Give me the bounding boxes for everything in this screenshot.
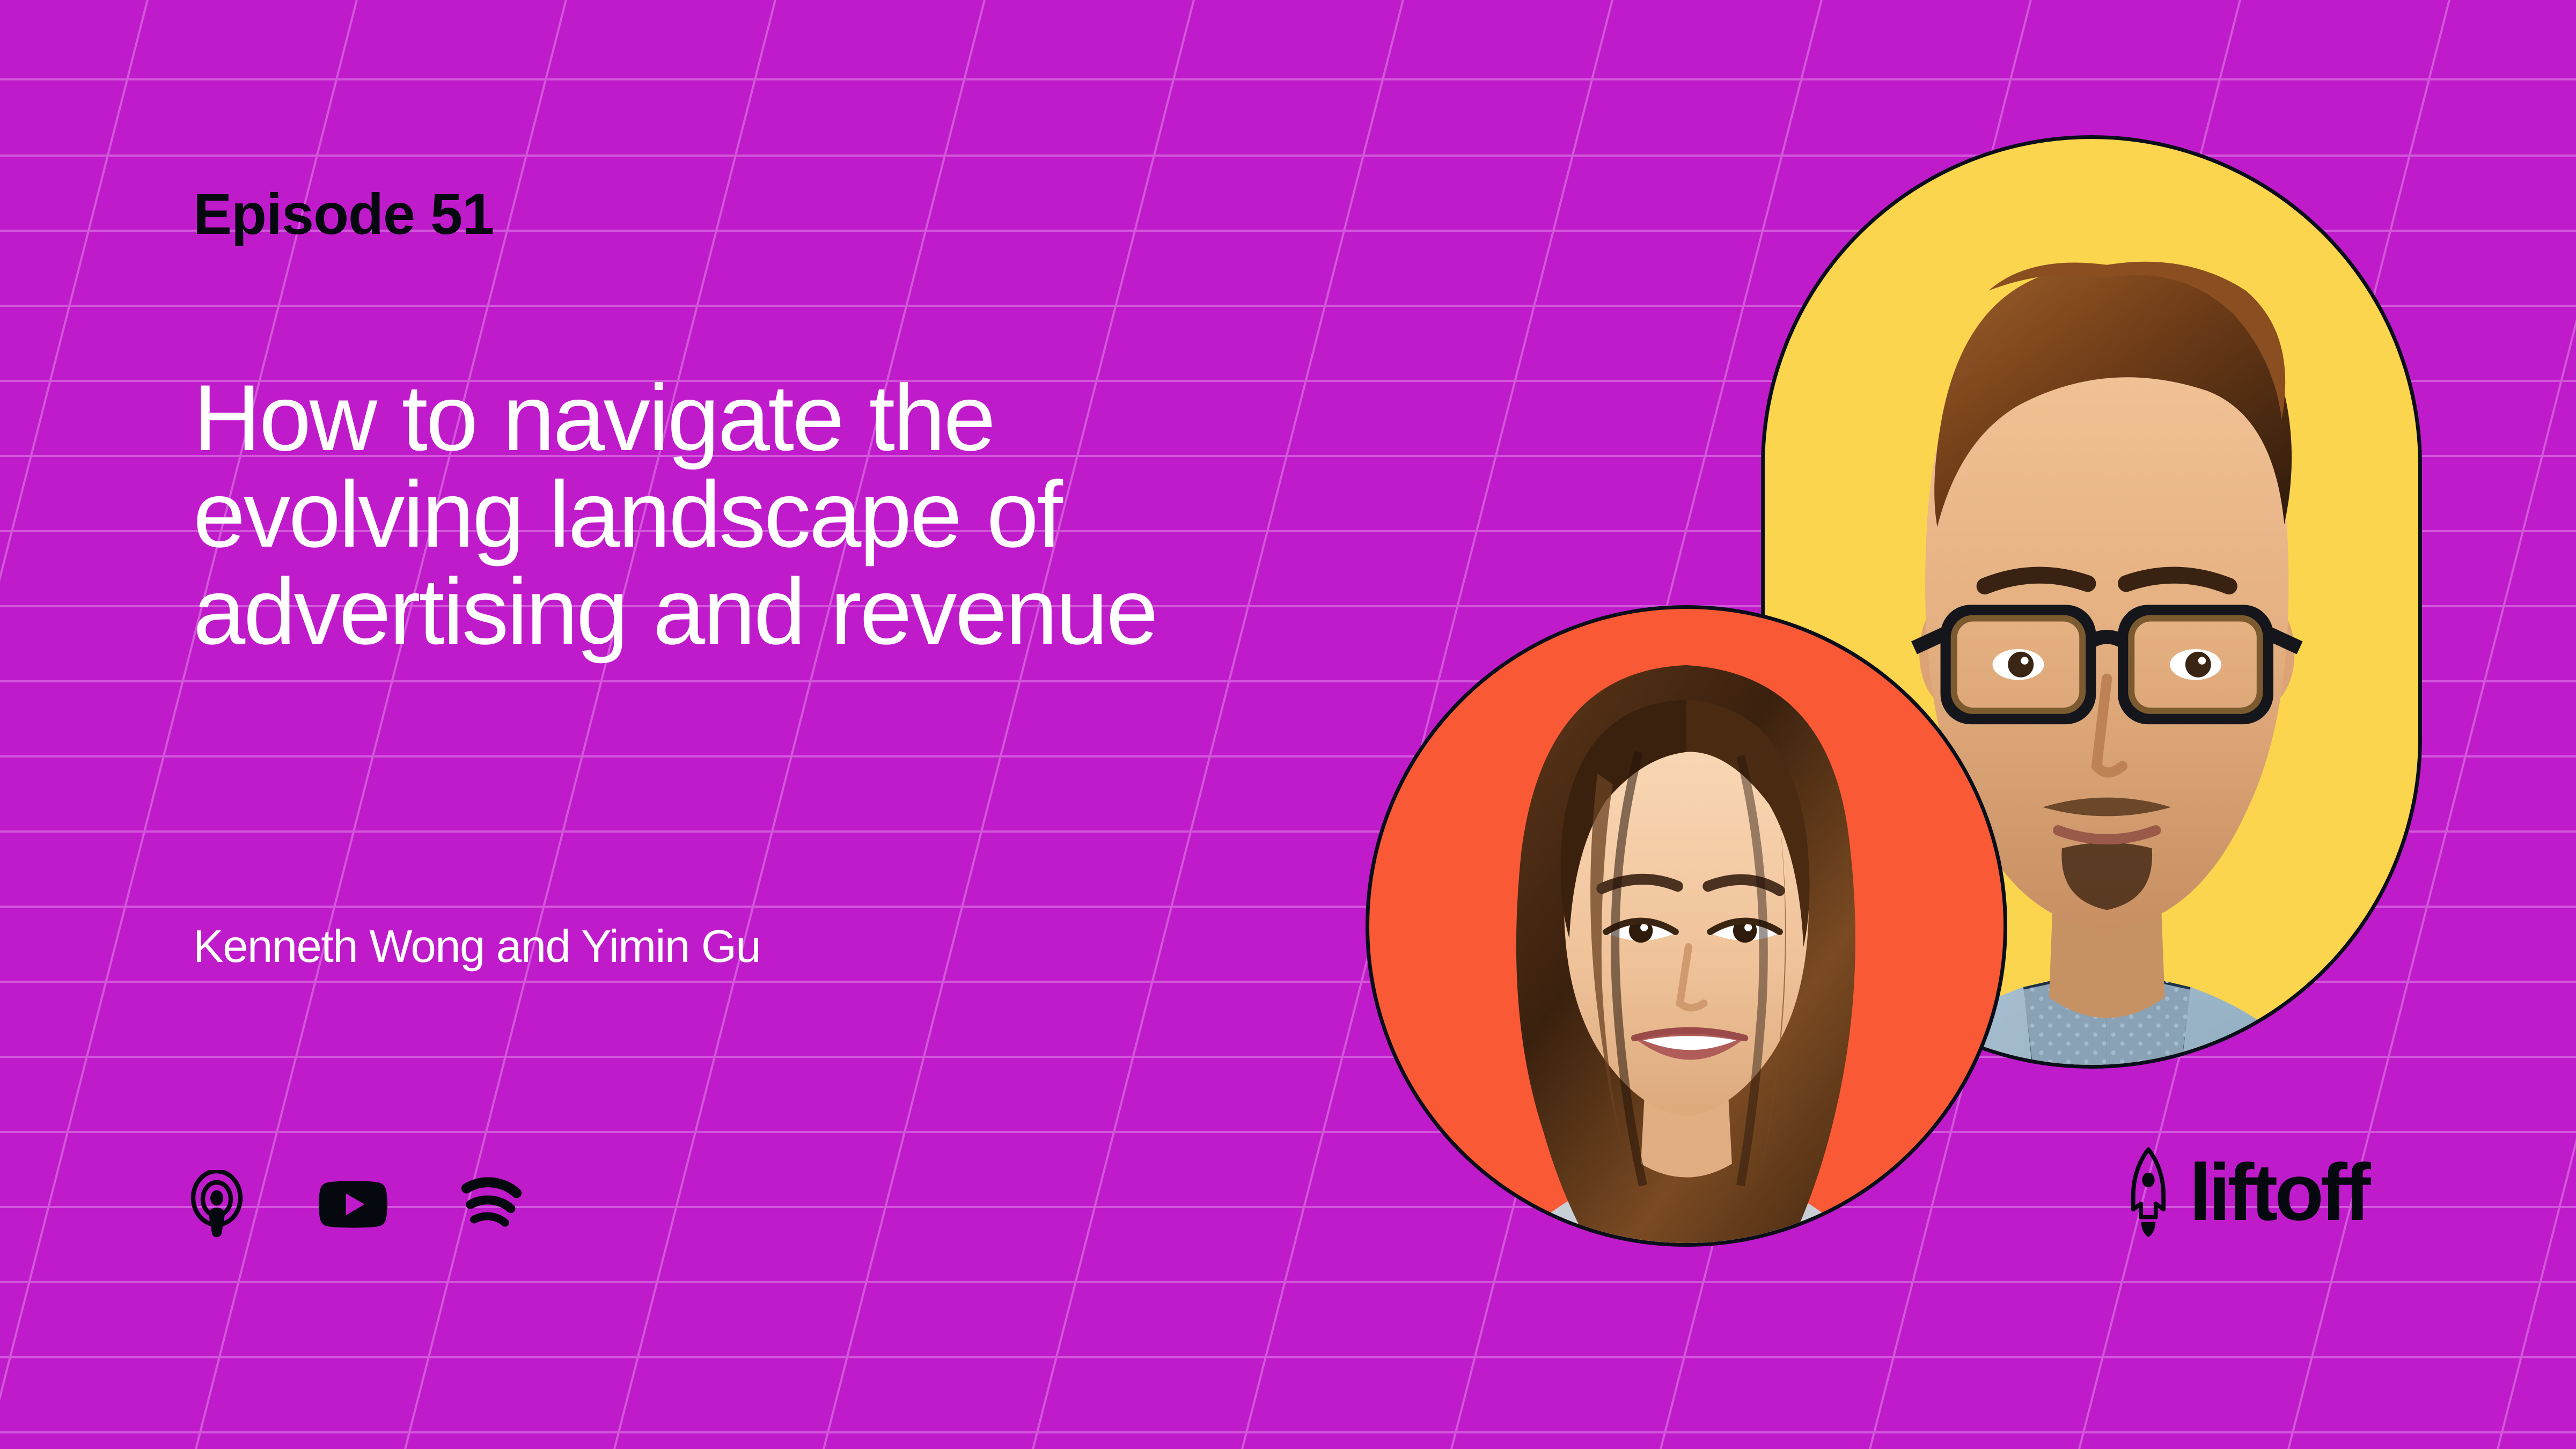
rocket-icon [2119,1147,2177,1237]
episode-text-block: Episode 51 How to navigate the evolving … [0,0,1395,1449]
apple-podcasts-icon[interactable] [189,1170,245,1239]
host-secondary-photo [1395,622,1978,1247]
youtube-icon[interactable] [319,1180,387,1229]
episode-title: How to navigate the evolving landscape o… [193,370,1320,660]
platform-icon-row [189,1167,522,1242]
episode-guests: Kenneth Wong and Yimin Gu [193,922,760,972]
brand-logo[interactable]: liftoff [2119,1147,2368,1237]
spotify-icon[interactable] [461,1177,522,1232]
host-secondary-photo-frame [1366,605,2007,1247]
episode-number-label: Episode 51 [193,185,494,243]
brand-wordmark: liftoff [2189,1152,2368,1232]
